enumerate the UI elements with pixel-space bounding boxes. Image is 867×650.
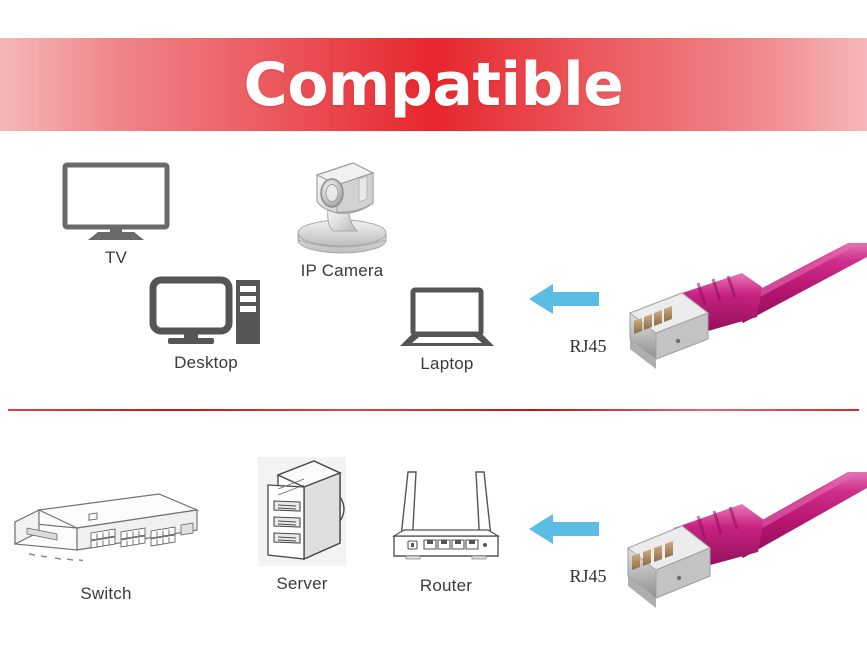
server-icon [256, 455, 348, 568]
device-label-ip-camera: IP Camera [283, 261, 401, 281]
device-label-desktop: Desktop [145, 353, 267, 373]
desktop-icon [150, 277, 262, 347]
rj45-cable-icon [612, 472, 867, 610]
device-router: Router [386, 460, 506, 596]
router-icon [386, 460, 506, 570]
device-label-router: Router [386, 576, 506, 596]
banner: Compatible [0, 38, 867, 131]
device-laptop: Laptop [391, 288, 503, 374]
device-desktop: Desktop [145, 277, 267, 373]
rj45-cable-bottom [612, 472, 867, 610]
device-label-server: Server [252, 574, 352, 594]
page-title: Compatible [244, 55, 624, 115]
rj45-cable-top [612, 243, 867, 371]
device-ip-camera: IP Camera [283, 155, 401, 281]
compatibility-diagram: Compatible TV [0, 0, 867, 650]
rj45-cable-icon [612, 243, 867, 371]
ip-camera-icon [287, 155, 397, 255]
laptop-icon [399, 288, 495, 348]
device-tv: TV [55, 162, 177, 268]
arrow-left-icon [529, 282, 599, 316]
section-divider [8, 409, 859, 411]
arrow-left-icon [529, 512, 599, 546]
switch-icon [11, 488, 201, 566]
device-server: Server [252, 455, 352, 594]
device-label-tv: TV [55, 248, 177, 268]
tv-icon [62, 162, 170, 242]
device-switch: Switch [30, 488, 182, 604]
device-label-switch: Switch [30, 584, 182, 604]
device-label-laptop: Laptop [391, 354, 503, 374]
